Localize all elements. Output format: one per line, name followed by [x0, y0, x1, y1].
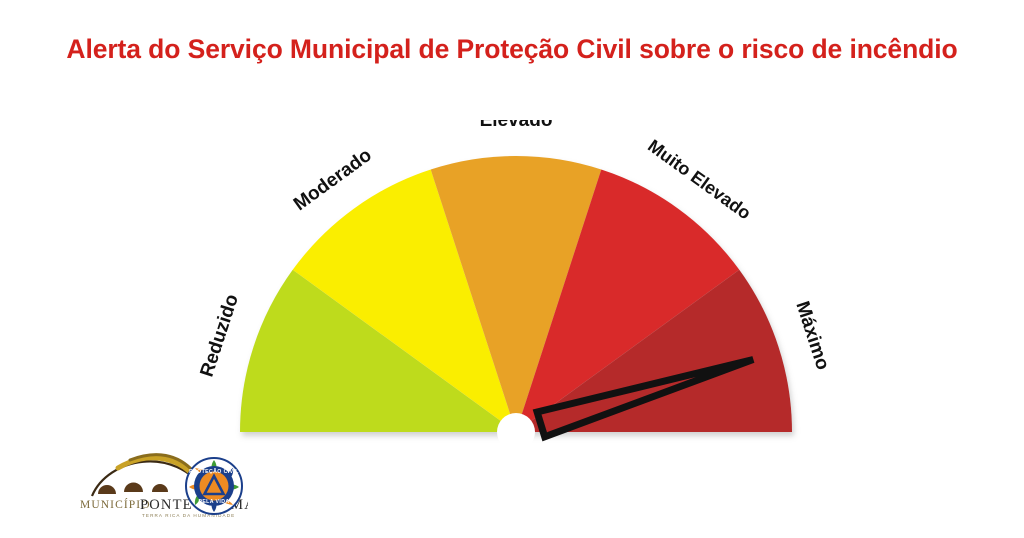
- bridge-arch-3: [152, 484, 168, 492]
- protecao-civil-logo-svg: PROTEÇÃO CIVIL PELA VIDA: [178, 454, 250, 518]
- footer-logos: MUNICÍPIO PONTE D LIMA TERRA RICA DA HUM…: [78, 448, 378, 530]
- logo-protecao-civil: PROTEÇÃO CIVIL PELA VIDA: [178, 454, 250, 518]
- bridge-arch-2: [124, 483, 143, 493]
- gauge-hub: [497, 413, 535, 450]
- emblem-ring-text-top: PROTEÇÃO CIVIL: [189, 468, 239, 475]
- page-title: Alerta do Serviço Municipal de Proteção …: [0, 34, 1024, 65]
- gauge-label-reduzido: Reduzido: [197, 292, 243, 380]
- gauge-label-elevado: Elevado: [480, 120, 553, 131]
- gauge-svg: Reduzido Moderado Elevado Muito Elevado …: [0, 120, 1024, 450]
- gauge-label-maximo: Máximo: [791, 299, 833, 373]
- emblem-ring-text-bottom: PELA VIDA: [198, 499, 229, 505]
- bridge-arch-1: [98, 485, 116, 494]
- fire-risk-gauge: Reduzido Moderado Elevado Muito Elevado …: [0, 120, 1024, 450]
- alert-poster: Alerta do Serviço Municipal de Proteção …: [0, 0, 1024, 538]
- page-title-text: Alerta do Serviço Municipal de Proteção …: [66, 34, 957, 65]
